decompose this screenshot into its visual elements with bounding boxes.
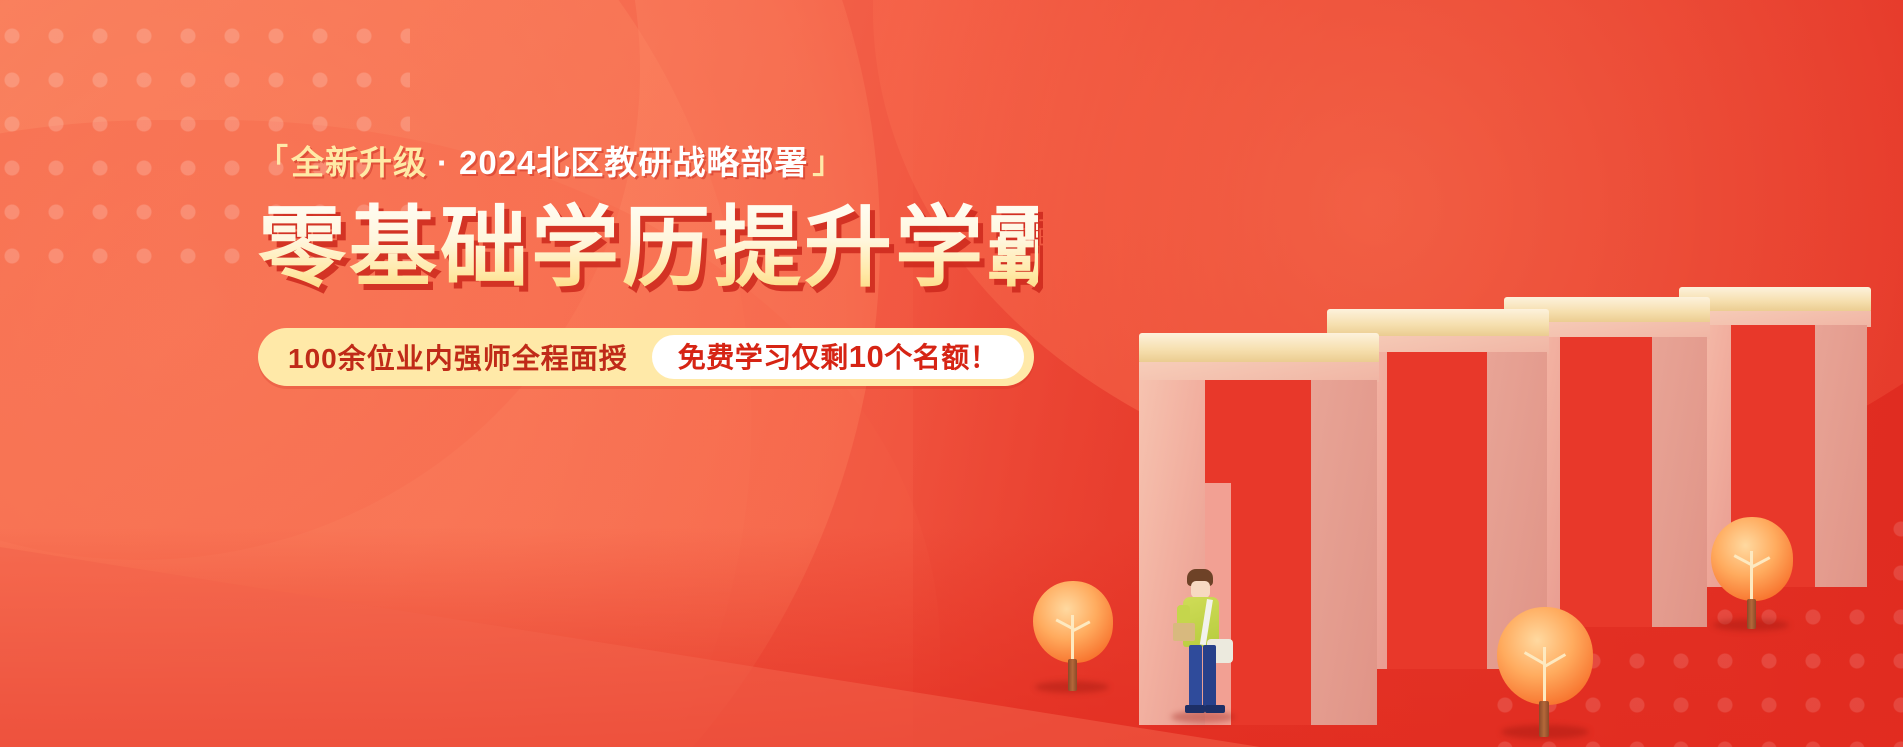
- bracket-open: 「: [258, 146, 289, 176]
- bracket-close: 」: [812, 149, 843, 179]
- tree-right: [1711, 517, 1793, 629]
- figure-leg-front: [1189, 645, 1202, 707]
- eyebrow-separator-dot: ·: [437, 146, 449, 179]
- text-column: 「 全新升级 · 2024北区教研战略部署 」 零基础学历提升学霸班 100余位…: [258, 146, 1038, 386]
- figure-shoe-front: [1185, 705, 1205, 713]
- eyebrow-rest: 2024北区教研战略部署: [459, 146, 808, 179]
- pill-teachers-label: 100余位业内强师全程面授: [288, 337, 652, 377]
- student-figure: [1165, 569, 1243, 719]
- offer-pill[interactable]: 100余位业内强师全程面授 免费学习仅剩10个名额！: [258, 328, 1034, 386]
- eyebrow-line: 「 全新升级 · 2024北区教研战略部署 」: [258, 146, 1038, 179]
- pill-slots-number: 10: [849, 339, 884, 374]
- illustration-scene: [1043, 187, 1903, 747]
- figure-leg-back: [1203, 645, 1216, 707]
- tree-middle: [1497, 607, 1593, 737]
- pill-slots-badge: 免费学习仅剩10个名额！: [652, 335, 1025, 379]
- pill-slots-prefix: 免费学习仅剩: [678, 342, 849, 373]
- promo-banner: 「 全新升级 · 2024北区教研战略部署 」 零基础学历提升学霸班 100余位…: [0, 0, 1903, 747]
- figure-book: [1173, 623, 1195, 641]
- figure-face: [1191, 581, 1210, 598]
- eyebrow-highlight: 全新升级: [291, 146, 427, 179]
- pill-slots-suffix: 个名额！: [884, 342, 998, 373]
- headline-title: 零基础学历提升学霸班: [258, 201, 1038, 294]
- figure-shoe-back: [1205, 705, 1225, 713]
- tree-left: [1033, 581, 1113, 691]
